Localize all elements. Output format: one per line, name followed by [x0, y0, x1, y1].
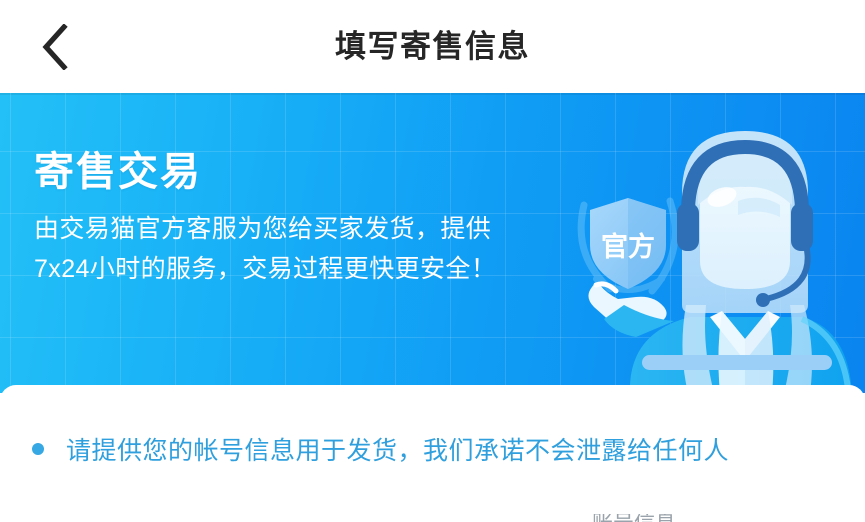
banner-title: 寄售交易	[34, 151, 496, 193]
cutoff-bottom-text-label: 账号信息	[592, 514, 842, 522]
banner-description: 由交易猫官方客服为您给买家发货，提供 7x24小时的服务，交易过程更快更安全！	[34, 209, 496, 289]
privacy-notice: 请提供您的帐号信息用于发货，我们承诺不会泄露给任何人	[32, 431, 729, 467]
privacy-notice-text: 请提供您的帐号信息用于发货，我们承诺不会泄露给任何人	[66, 431, 729, 467]
page-title: 填写寄售信息	[0, 0, 865, 93]
banner-text-block: 寄售交易 由交易猫官方客服为您给买家发货，提供 7x24小时的服务，交易过程更快…	[34, 151, 496, 289]
svg-text:官方: 官方	[601, 231, 655, 262]
chevron-left-icon	[40, 24, 70, 70]
banner-description-line-2: 7x24小时的服务，交易过程更快更安全！	[34, 249, 496, 289]
cutoff-bottom-text: 账号信息	[592, 514, 842, 522]
back-button[interactable]	[24, 18, 86, 76]
sell-info-screen: 填写寄售信息 寄售交易 由交易猫官方客服为您给买家发货，提供 7x24小时的服务…	[0, 0, 865, 522]
consignment-banner: 寄售交易 由交易猫官方客服为您给买家发货，提供 7x24小时的服务，交易过程更快…	[0, 93, 865, 393]
bullet-dot-icon	[32, 443, 44, 455]
banner-description-line-1: 由交易猫官方客服为您给买家发货，提供	[34, 209, 496, 249]
desk-bar	[642, 355, 832, 370]
content-card: 请提供您的帐号信息用于发货，我们承诺不会泄露给任何人	[0, 385, 865, 522]
navigation-bar: 填写寄售信息	[0, 0, 865, 93]
customer-service-agent-illustration: 官方	[570, 93, 865, 393]
